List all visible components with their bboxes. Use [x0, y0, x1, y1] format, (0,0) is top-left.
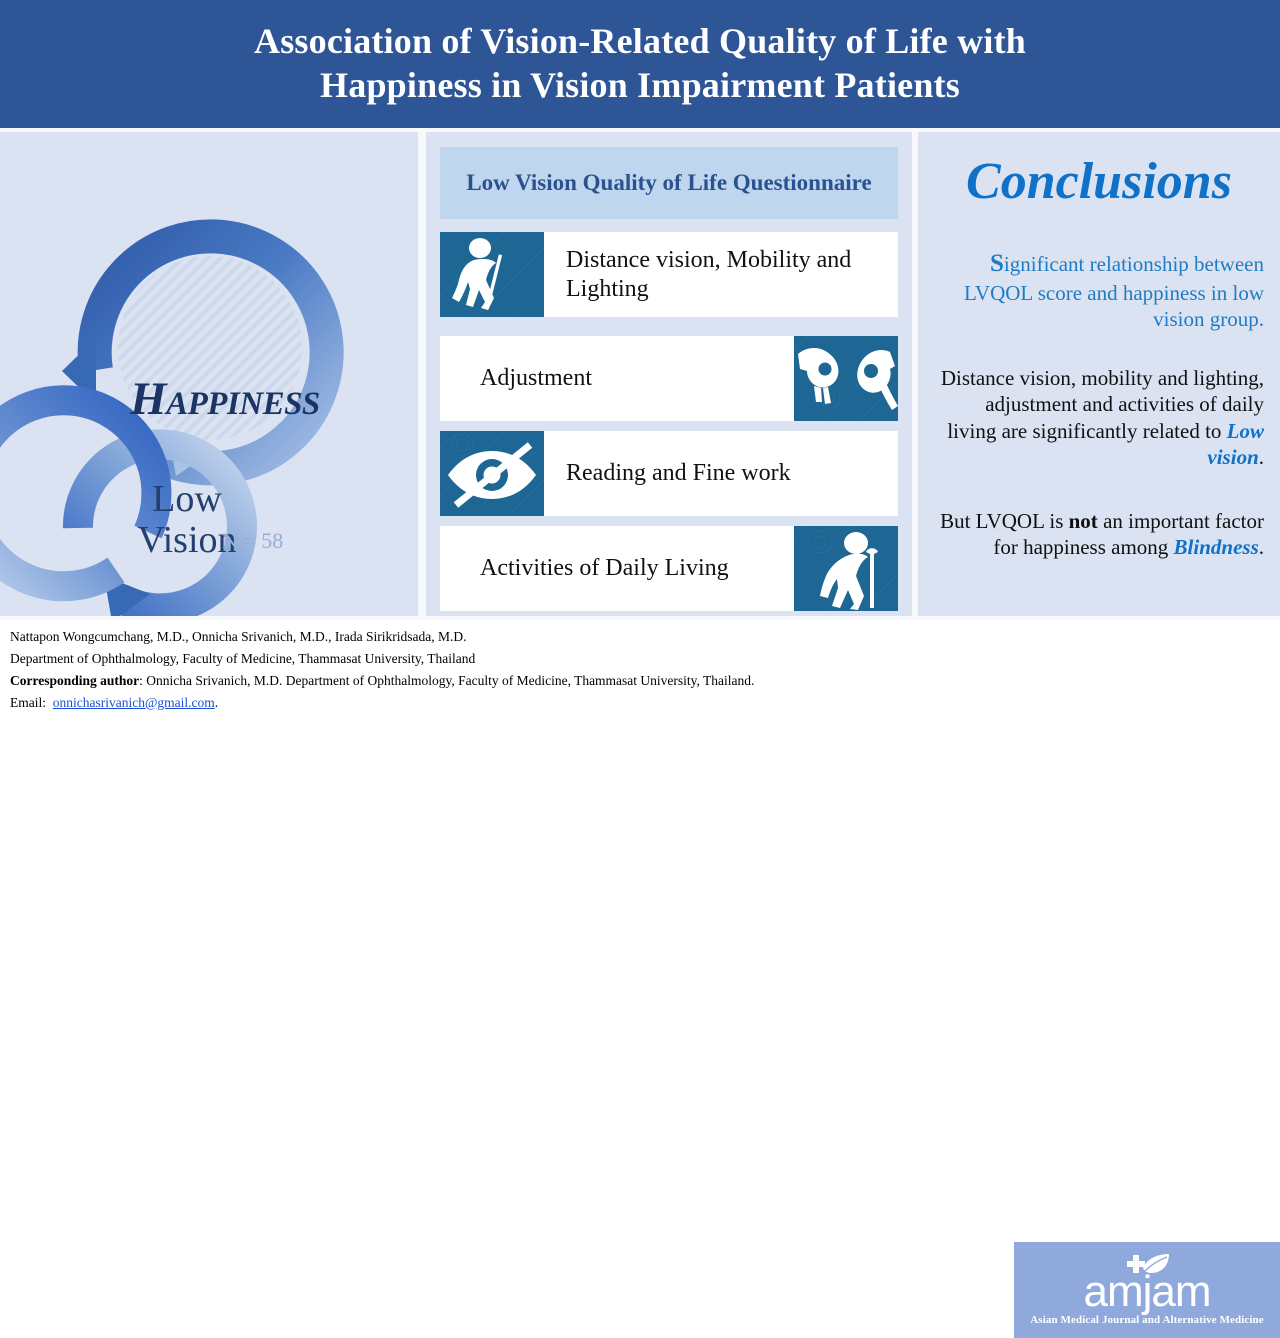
graphical-abstract-poster: Association of Vision-Related Quality of…: [0, 0, 1280, 720]
conclusion-3-text-c: .: [1259, 535, 1264, 559]
questionnaire-row[interactable]: Distance vision, Mobility and Lighting: [440, 232, 898, 317]
cycle-label-happiness: HAPPINESS: [130, 372, 320, 426]
blind-person-cane-icon: [440, 232, 544, 317]
leaf-cross-icon: [1087, 1254, 1207, 1276]
conclusion-paragraph-2: Distance vision, mobility and lighting, …: [938, 365, 1264, 471]
conclusion-1-text: ignificant relationship between LVQOL sc…: [964, 252, 1264, 331]
footer-text-block: Nattapon Wongcumchang, M.D., Onnicha Sri…: [10, 626, 990, 713]
conclusion-3-text-a: But LVQOL is: [940, 509, 1069, 533]
footer-email-period: .: [215, 695, 218, 710]
questionnaire-row-label: Distance vision, Mobility and Lighting: [544, 232, 898, 317]
questionnaire-row-label: Activities of Daily Living: [440, 526, 794, 611]
title-line-2: Happiness in Vision Impairment Patients: [320, 65, 960, 105]
questionnaire-row-label: Adjustment: [440, 336, 794, 421]
conclusion-2-text-a: Distance vision, mobility and lighting, …: [941, 366, 1264, 443]
logo-wordmark: amjam: [1083, 1272, 1210, 1312]
footer-corresponding-rest: : Onnicha Srivanich, M.D. Department of …: [139, 673, 754, 688]
footer: Nattapon Wongcumchang, M.D., Onnicha Sri…: [0, 620, 1280, 720]
conclusion-paragraph-1: Significant relationship between LVQOL s…: [938, 248, 1264, 332]
email-link[interactable]: onnichasrivanich@gmail.com: [53, 695, 215, 710]
footer-affiliation: Department of Ophthalmology, Faculty of …: [10, 648, 990, 670]
journal-logo: amjam Asian Medical Journal and Alternat…: [1014, 1242, 1280, 1338]
footer-email-label: Email:: [10, 695, 46, 710]
footer-email-line: Email: onnichasrivanich@gmail.com.: [10, 692, 990, 714]
logo-tagline: Asian Medical Journal and Alternative Me…: [1030, 1314, 1263, 1326]
sign-language-hands-icon: [794, 336, 898, 421]
elderly-walking-stick-icon: [794, 526, 898, 611]
questionnaire-row[interactable]: Reading and Fine work: [440, 431, 898, 516]
questionnaire-heading: Low Vision Quality of Life Questionnaire: [440, 147, 898, 219]
conclusion-3-bold: not: [1069, 509, 1098, 533]
conclusions-title: Conclusions: [918, 152, 1280, 211]
footer-corresponding-label: Corresponding author: [10, 673, 139, 688]
questionnaire-row[interactable]: Activities of Daily Living: [440, 526, 898, 611]
happiness-initial: H: [130, 373, 166, 425]
poster-title-bar: Association of Vision-Related Quality of…: [0, 0, 1280, 128]
cycle-count-low-vision: N = 58: [222, 528, 283, 554]
page-title: Association of Vision-Related Quality of…: [214, 20, 1066, 108]
questionnaire-row-label: Reading and Fine work: [544, 431, 898, 516]
conclusion-2-text-b: .: [1259, 445, 1264, 469]
happiness-cycle-diagram: HAPPINESS Low Vision N = 58 Blindness N …: [0, 132, 418, 616]
conclusion-1-cap: S: [990, 250, 1004, 277]
title-line-1: Association of Vision-Related Quality of…: [254, 21, 1026, 61]
footer-authors: Nattapon Wongcumchang, M.D., Onnicha Sri…: [10, 626, 990, 648]
eye-slash-icon: [440, 431, 544, 516]
conclusion-3-highlight: Blindness: [1174, 535, 1259, 559]
conclusion-paragraph-3: But LVQOL is not an important factor for…: [938, 508, 1264, 561]
footer-corresponding: Corresponding author: Onnicha Srivanich,…: [10, 670, 990, 692]
questionnaire-row[interactable]: Adjustment: [440, 336, 898, 421]
happiness-rest: APPINESS: [166, 386, 320, 422]
questionnaire-heading-text: Low Vision Quality of Life Questionnaire: [466, 169, 871, 197]
